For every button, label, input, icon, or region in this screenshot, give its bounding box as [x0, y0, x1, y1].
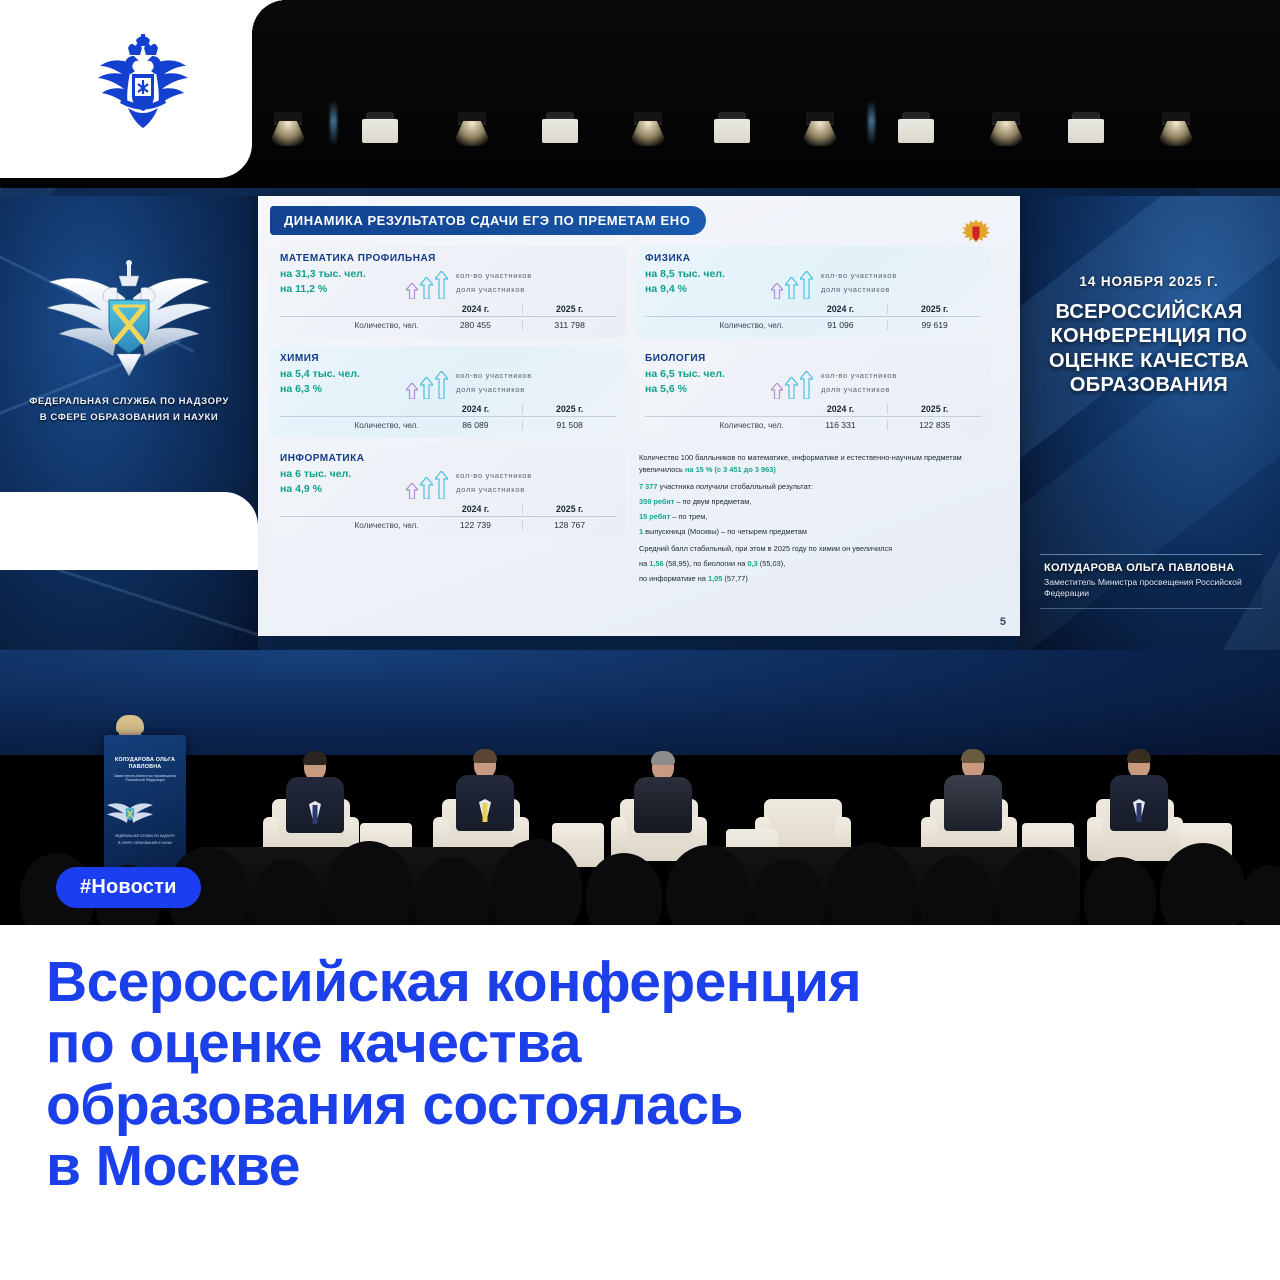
slide-header: ДИНАМИКА РЕЗУЛЬТАТОВ СДАЧИ ЕГЭ ПО ПРЕМЕТ…: [270, 206, 706, 235]
subject-card-math: МАТЕМАТИКА ПРОФИЛЬНАЯ на 31,3 тыс. чел. …: [270, 246, 626, 338]
note-line8c: (57,77): [722, 574, 747, 583]
delta-absolute: на 31,3 тыс. чел.: [280, 267, 400, 282]
emblem-caption-line2: В СФЕРЕ ОБРАЗОВАНИЯ И НАУКИ: [14, 411, 244, 425]
delta-percent: на 6,3 %: [280, 382, 400, 397]
growth-arrows-icon: [406, 469, 448, 499]
legend-count: кол-во участников: [456, 469, 532, 483]
col-header-2024: 2024 г.: [429, 404, 523, 414]
delta-absolute: на 5,4 тыс. чел.: [280, 367, 400, 382]
col-header-2024: 2024 г.: [429, 504, 523, 514]
legend-count: кол-во участников: [456, 369, 532, 383]
slide-column-right: ФИЗИКА на 8,5 тыс. чел. на 9,4 % кол-: [635, 246, 991, 588]
conference-title: ВСЕРОССИЙСКАЯ КОНФЕРЕНЦИЯ ПО ОЦЕНКЕ КАЧЕ…: [1026, 300, 1272, 398]
russian-double-eagle-emblem-icon: [88, 32, 198, 132]
legend-share: доля участников: [456, 383, 532, 397]
value-2024: 280 455: [429, 320, 523, 330]
note-line8a: по информатике на: [639, 574, 708, 583]
table-row: Количество, чел. 122 739 128 767: [280, 517, 616, 530]
note-line2a: 7 377: [639, 482, 658, 491]
note-line1b: на 15 % (с 3 451 до 3 963): [685, 465, 776, 474]
value-2024: 116 331: [794, 420, 888, 430]
card-title: БИОЛОГИЯ: [645, 353, 981, 364]
legend-share: доля участников: [456, 283, 532, 297]
growth-arrows-icon: [406, 369, 448, 399]
col-header-2025: 2025 г.: [887, 304, 981, 314]
note-line7e: (55,03),: [758, 559, 786, 568]
slide-card-grid: МАТЕМАТИКА ПРОФИЛЬНАЯ на 31,3 тыс. чел. …: [270, 246, 1008, 588]
value-2025: 99 619: [887, 320, 981, 330]
note-line7a: на: [639, 559, 649, 568]
table-row: Количество, чел. 116 331 122 835: [645, 417, 981, 430]
note-line3a: 359 ребят: [639, 497, 674, 506]
speaker-card: КОЛУДАРОВА ОЛЬГА ПАВЛОВНА Заместитель Ми…: [1040, 554, 1262, 609]
delta-percent: на 5,6 %: [645, 382, 765, 397]
col-header-2024: 2024 г.: [794, 404, 888, 414]
delta-absolute: на 6 тыс. чел.: [280, 467, 400, 482]
headline-line-1: Всероссийская конференция: [46, 952, 1236, 1013]
delta-absolute: на 8,5 тыс. чел.: [645, 267, 765, 282]
value-2025: 122 835: [887, 420, 981, 430]
note-line5b: выпускница (Москвы) – по четырем предмет…: [643, 527, 807, 536]
legend-share: доля участников: [456, 483, 532, 497]
note-line4a: 15 ребят: [639, 512, 670, 521]
delta-percent: на 11,2 %: [280, 282, 400, 297]
headline-line-3: образования состоялась: [46, 1075, 1236, 1136]
col-header-2025: 2025 г.: [522, 304, 616, 314]
audience: [0, 807, 1280, 925]
row-label: Количество, чел.: [280, 421, 429, 430]
slide-notes: Количество 100 балльников по математике,…: [635, 446, 991, 588]
legend-share: доля участников: [821, 283, 897, 297]
speaker-name: КОЛУДАРОВА ОЛЬГА ПАВЛОВНА: [1044, 562, 1258, 574]
growth-arrows-icon: [771, 369, 813, 399]
note-line7c: (58,95), по биологии на: [664, 559, 748, 568]
value-2025: 91 508: [522, 420, 616, 430]
subject-card-informatics: ИНФОРМАТИКА на 6 тыс. чел. на 4,9 % к: [270, 446, 626, 538]
value-2024: 91 096: [794, 320, 888, 330]
col-header-2024: 2024 г.: [429, 304, 523, 314]
russian-coat-of-arms-icon: [958, 216, 994, 246]
hashtag-badge[interactable]: #Новости: [56, 867, 201, 908]
card-title: ФИЗИКА: [645, 253, 981, 264]
podium-speaker-role: Заместитель Министра просвещения Российс…: [104, 774, 186, 783]
row-label: Количество, чел.: [280, 521, 429, 530]
rosobrnadzor-emblem-panel: ФЕДЕРАЛЬНАЯ СЛУЖБА ПО НАДЗОРУ В СФЕРЕ ОБ…: [0, 196, 258, 651]
col-header-2025: 2025 г.: [522, 504, 616, 514]
card-title: ИНФОРМАТИКА: [280, 453, 616, 464]
note-line8b: 1,05: [708, 574, 722, 583]
note-line2b: участника получили стобалльный результат…: [658, 482, 814, 491]
presentation-slide: ДИНАМИКА РЕЗУЛЬТАТОВ СДАЧИ ЕГЭ ПО ПРЕМЕТ…: [258, 196, 1020, 636]
conference-title-panel: 14 НОЯБРЯ 2025 Г. ВСЕРОССИЙСКАЯ КОНФЕРЕН…: [1018, 196, 1280, 651]
delta-percent: на 9,4 %: [645, 282, 765, 297]
slide-page-number: 5: [1000, 616, 1006, 628]
card-title: ХИМИЯ: [280, 353, 616, 364]
table-row: Количество, чел. 91 096 99 619: [645, 317, 981, 330]
legend-share: доля участников: [821, 383, 897, 397]
headline-line-2: по оценке качества: [46, 1013, 1236, 1074]
legend-count: кол-во участников: [456, 269, 532, 283]
note-line4b: – по трем,: [670, 512, 707, 521]
value-2024: 86 089: [429, 420, 523, 430]
note-line6: Средний балл стабильный, при этом в 2025…: [639, 543, 985, 555]
delta-percent: на 4,9 %: [280, 482, 400, 497]
note-line7d: 0,3: [747, 559, 757, 568]
col-header-2024: 2024 г.: [794, 304, 888, 314]
subject-card-chemistry: ХИМИЯ на 5,4 тыс. чел. на 6,3 % кол-в: [270, 346, 626, 438]
podium-speaker-name: КОЛУДАРОВА ОЛЬГА ПАВЛОВНА: [104, 757, 186, 772]
table-row: Количество, чел. 280 455 311 798: [280, 317, 616, 330]
speaker-role: Заместитель Министра просвещения Российс…: [1044, 577, 1258, 600]
col-header-2025: 2025 г.: [522, 404, 616, 414]
note-line7b: 1,56: [649, 559, 663, 568]
slide-column-left: МАТЕМАТИКА ПРОФИЛЬНАЯ на 31,3 тыс. чел. …: [270, 246, 626, 588]
growth-arrows-icon: [406, 269, 448, 299]
page-title: Всероссийская конференция по оценке каче…: [46, 952, 1236, 1197]
col-header-2025: 2025 г.: [887, 404, 981, 414]
hashtag-notch: [0, 492, 258, 570]
headline-line-4: в Москве: [46, 1136, 1236, 1197]
delta-absolute: на 6,5 тыс. чел.: [645, 367, 765, 382]
card-title: МАТЕМАТИКА ПРОФИЛЬНАЯ: [280, 253, 616, 264]
emblem-caption-line1: ФЕДЕРАЛЬНАЯ СЛУЖБА ПО НАДЗОРУ: [14, 395, 244, 409]
legend-count: кол-во участников: [821, 269, 897, 283]
value-2024: 122 739: [429, 520, 523, 530]
row-label: Количество, чел.: [645, 321, 794, 330]
subject-card-physics: ФИЗИКА на 8,5 тыс. чел. на 9,4 % кол-: [635, 246, 991, 338]
growth-arrows-icon: [771, 269, 813, 299]
conference-photo: ФЕДЕРАЛЬНАЯ СЛУЖБА ПО НАДЗОРУ В СФЕРЕ ОБ…: [0, 0, 1280, 925]
value-2025: 311 798: [522, 320, 616, 330]
note-line3b: – по двум предметам,: [674, 497, 751, 506]
logo-notch: [0, 0, 252, 178]
conference-date: 14 НОЯБРЯ 2025 Г.: [1018, 274, 1280, 289]
table-row: Количество, чел. 86 089 91 508: [280, 417, 616, 430]
row-label: Количество, чел.: [280, 321, 429, 330]
row-label: Количество, чел.: [645, 421, 794, 430]
legend-count: кол-во участников: [821, 369, 897, 383]
subject-card-biology: БИОЛОГИЯ на 6,5 тыс. чел. на 5,6 % ко: [635, 346, 991, 438]
rosobrnadzor-winged-emblem-icon: [29, 258, 229, 378]
value-2025: 128 767: [522, 520, 616, 530]
